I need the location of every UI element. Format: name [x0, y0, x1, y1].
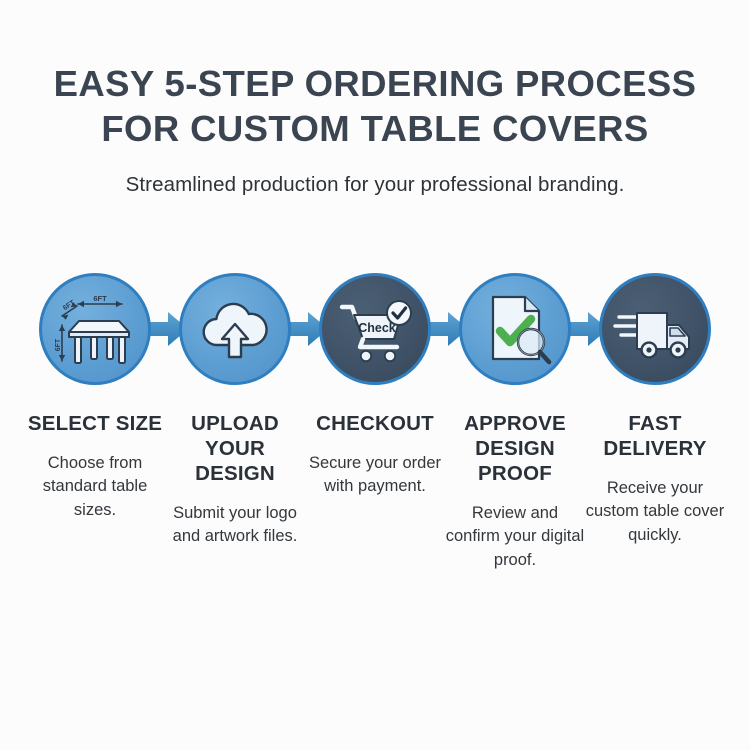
step-3-caption: CHECKOUT Secure your order with payment. — [303, 411, 447, 499]
step-1-badge-wrap: 6FT 6FT 6FT — [35, 269, 155, 389]
step-2-title: UPLOAD YOUR DESIGN — [163, 411, 307, 486]
step-1-select-size[interactable]: 6FT 6FT 6FT — [25, 269, 165, 522]
svg-text:6FT: 6FT — [55, 338, 62, 351]
svg-text:6FT: 6FT — [93, 294, 107, 303]
step-3-checkout[interactable]: Check CHECKOUT Secure your order with pa… — [305, 269, 445, 499]
step-2-description: Submit your logo and artwork files. — [163, 502, 307, 549]
step-1-title: SELECT SIZE — [23, 411, 167, 436]
steps-row: 6FT 6FT 6FT — [0, 269, 750, 572]
step-5-description: Receive your custom table cover quickly. — [583, 477, 727, 547]
step-3-description: Secure your order with payment. — [303, 452, 447, 499]
step-5-fast-delivery[interactable]: FAST DELIVERY Receive your custom table … — [585, 269, 725, 547]
step-4-description: Review and confirm your digital proof. — [443, 502, 587, 572]
step-4-title: APPROVE DESIGN PROOF — [443, 411, 587, 486]
step-2-badge[interactable] — [179, 273, 291, 385]
step-2-upload-design[interactable]: UPLOAD YOUR DESIGN Submit your logo and … — [165, 269, 305, 549]
page-title-line-2: FOR CUSTOM TABLE COVERS — [40, 107, 710, 152]
step-3-badge[interactable]: Check — [319, 273, 431, 385]
step-5-badge[interactable] — [599, 273, 711, 385]
table-dimensions-icon: 6FT 6FT 6FT — [53, 287, 137, 371]
step-1-description: Choose from standard table sizes. — [23, 452, 167, 522]
step-5-caption: FAST DELIVERY Receive your custom table … — [583, 411, 727, 547]
cart-check-label: Check — [358, 321, 396, 335]
cloud-upload-icon — [193, 287, 277, 371]
step-4-badge-wrap — [455, 269, 575, 389]
step-5-badge-wrap — [595, 269, 715, 389]
page-title: EASY 5-STEP ORDERING PROCESS FOR CUSTOM … — [0, 62, 750, 151]
step-2-badge-wrap — [175, 269, 295, 389]
step-4-badge[interactable] — [459, 273, 571, 385]
step-1-badge[interactable]: 6FT 6FT 6FT — [39, 273, 151, 385]
page-subtitle: Streamlined production for your professi… — [0, 173, 750, 197]
step-4-approve-proof[interactable]: APPROVE DESIGN PROOF Review and confirm … — [445, 269, 585, 572]
step-5-title: FAST DELIVERY — [583, 411, 727, 461]
step-3-title: CHECKOUT — [303, 411, 447, 436]
header: EASY 5-STEP ORDERING PROCESS FOR CUSTOM … — [0, 0, 750, 197]
page-title-line-1: EASY 5-STEP ORDERING PROCESS — [40, 62, 710, 107]
document-approved-magnifier-icon — [473, 287, 557, 371]
step-2-caption: UPLOAD YOUR DESIGN Submit your logo and … — [163, 411, 307, 549]
shopping-cart-check-icon: Check — [333, 287, 417, 371]
fast-delivery-truck-icon — [613, 287, 697, 371]
step-3-badge-wrap: Check — [315, 269, 435, 389]
infographic-poster: EASY 5-STEP ORDERING PROCESS FOR CUSTOM … — [0, 0, 750, 750]
step-1-caption: SELECT SIZE Choose from standard table s… — [23, 411, 167, 522]
step-4-caption: APPROVE DESIGN PROOF Review and confirm … — [443, 411, 587, 572]
